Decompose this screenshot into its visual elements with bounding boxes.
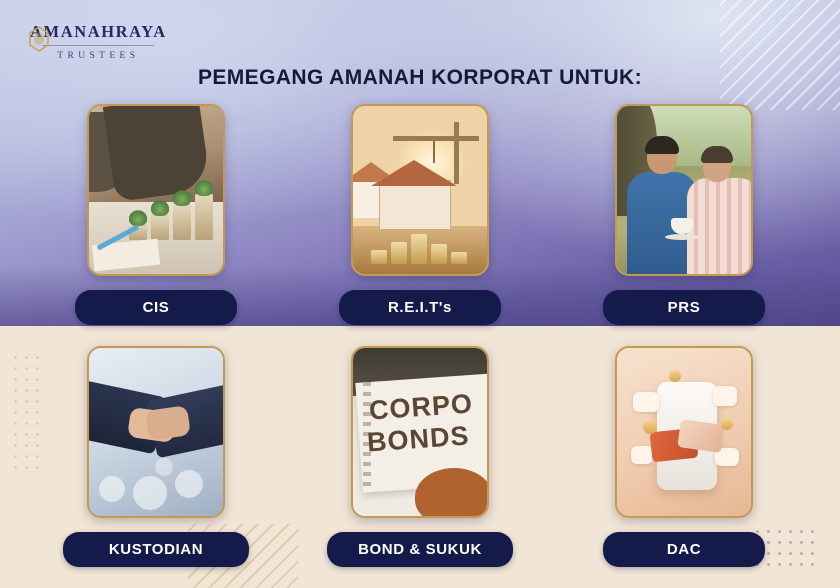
card-reits[interactable]: R.E.I.T's (348, 104, 492, 325)
card-reits-thumbnail (351, 104, 489, 276)
card-bond-sukuk[interactable]: CORPO BONDS BOND & SUKUK (348, 346, 492, 567)
card-cis-thumbnail (87, 104, 225, 276)
card-reits-label[interactable]: R.E.I.T's (339, 290, 501, 325)
poster-canvas: AMANAHRAYA TRUSTEES PEMEGANG AMANAH KORP… (0, 0, 840, 588)
card-dac-label[interactable]: DAC (603, 532, 765, 567)
business-handshake-photo (89, 348, 223, 516)
card-prs[interactable]: PRS (612, 104, 756, 325)
brand-name: AMANAHRAYA (30, 24, 167, 41)
card-dac-thumbnail (615, 346, 753, 518)
card-kustodian-label[interactable]: KUSTODIAN (63, 532, 249, 567)
card-kustodian[interactable]: KUSTODIAN (84, 346, 228, 567)
page-title: PEMEGANG AMANAH KORPORAT UNTUK: (0, 66, 840, 90)
card-bond-sukuk-label[interactable]: BOND & SUKUK (327, 532, 513, 567)
card-kustodian-thumbnail (87, 346, 225, 518)
amanahraya-mark-icon (28, 26, 50, 52)
mobile-wallet-cards-illustration (617, 348, 751, 516)
brand-divider (42, 45, 154, 46)
card-prs-thumbnail (615, 104, 753, 276)
coins-plants-desk-photo (89, 106, 223, 274)
corporate-bonds-paper-photo: CORPO BONDS (353, 348, 487, 516)
houses-crane-coins-photo (353, 106, 487, 274)
card-row-bottom: KUSTODIAN CORPO BONDS BOND & SUKUK (0, 346, 840, 567)
card-row-top: CIS (0, 104, 840, 325)
card-cis[interactable]: CIS (84, 104, 228, 325)
card-prs-label[interactable]: PRS (603, 290, 765, 325)
card-cis-label[interactable]: CIS (75, 290, 237, 325)
elderly-couple-outdoors-photo (617, 106, 751, 274)
brand-logo: AMANAHRAYA TRUSTEES (30, 24, 167, 61)
brand-subtitle: TRUSTEES (30, 52, 167, 62)
card-dac[interactable]: DAC (612, 346, 756, 567)
card-bond-sukuk-thumbnail: CORPO BONDS (351, 346, 489, 518)
